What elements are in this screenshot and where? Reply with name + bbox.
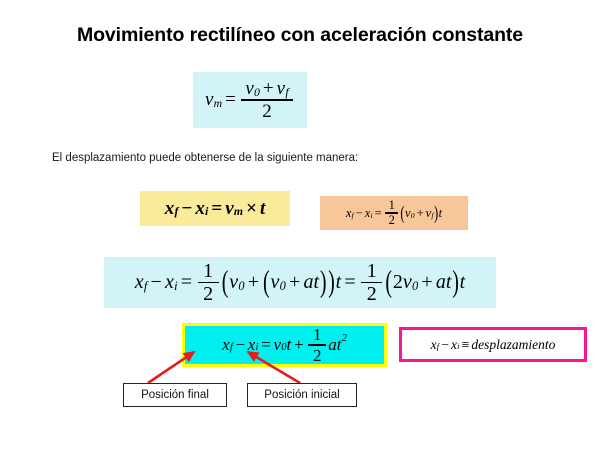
t-variable: t [260, 199, 265, 218]
vm-variable: v [225, 199, 233, 218]
vm-subscript: m [234, 206, 243, 218]
v0-subscript: 0 [254, 87, 260, 99]
xf-subscript: f [175, 206, 179, 218]
slide-canvas: Movimiento rectilíneo con aceleración co… [0, 0, 600, 450]
v0-subscript: 0 [281, 343, 286, 354]
identity-sign: ≡ [459, 338, 471, 352]
open-paren: ( [400, 203, 405, 222]
v0-variable-inner: v [271, 272, 280, 292]
v0-variable: v [229, 272, 238, 292]
minus-sign: − [178, 199, 195, 218]
xf-variable: x [135, 272, 144, 292]
formula-expanded: xf − xi = 1 2 ( v0 + ( v0 + at ) ) t = 1… [104, 257, 496, 308]
xf-subscript: f [437, 343, 439, 351]
v0-subscript-inner: 0 [280, 280, 286, 292]
plus-sign: + [260, 79, 277, 98]
close-paren-outer: ) [327, 267, 335, 298]
fraction-denominator: 2 [386, 214, 398, 227]
formula-displacement-half: xf − xi = 1 2 ( v0 + vf ) t [320, 196, 468, 230]
body-sentence: El desplazamiento puede obtenerse de la … [52, 152, 358, 164]
xi-subscript: i [256, 343, 259, 354]
plus-sign: + [291, 336, 306, 353]
fraction-mean-velocity: v0 + vf 2 [241, 79, 293, 121]
callout-final-position: Posición final [123, 383, 227, 407]
xi-variable: x [195, 199, 205, 218]
fraction-numerator: 1 [199, 261, 218, 282]
close-paren-second: ) [451, 267, 459, 298]
vm-variable: v [205, 90, 213, 109]
minus-sign: − [233, 336, 248, 353]
v0-subscript: 0 [411, 212, 415, 220]
callout-initial-position: Posición inicial [247, 383, 357, 407]
v0-variable: v [245, 79, 253, 98]
open-paren-outer: ( [221, 267, 229, 298]
v0-subscript: 0 [238, 280, 244, 292]
v0-variable-second: v [403, 272, 412, 292]
xf-variable: x [431, 338, 437, 352]
xi-subscript: i [457, 343, 459, 351]
xf-variable: x [165, 199, 175, 218]
formula-mean-velocity-expression: vm = v0 + vf 2 [205, 79, 295, 121]
plus-sign: + [415, 207, 426, 220]
vf-variable: v [277, 79, 285, 98]
equals-sign: = [222, 90, 239, 109]
equals-sign: = [208, 199, 225, 218]
callout-final-position-label: Posición final [141, 389, 209, 401]
xf-subscript: f [144, 280, 147, 292]
formula-mean-velocity: vm = v0 + vf 2 [193, 72, 307, 128]
xi-subscript: i [370, 212, 372, 220]
t-exponent: 2 [342, 334, 347, 345]
fraction-one-half: 1 2 [385, 199, 398, 227]
xf-variable: x [222, 336, 230, 353]
fraction-one-half-first: 1 2 [198, 261, 219, 305]
equals-sign: = [373, 207, 384, 220]
equals-sign: = [178, 272, 196, 292]
coefficient-two: 2 [393, 272, 403, 292]
fraction-numerator: 1 [386, 199, 398, 212]
xi-subscript: i [205, 206, 208, 218]
a-variable: a [304, 272, 314, 292]
fraction-denominator: 2 [362, 283, 381, 304]
page-title: Movimiento rectilíneo con aceleración co… [0, 24, 600, 47]
xi-variable: x [451, 338, 457, 352]
close-paren: ) [433, 203, 438, 222]
minus-sign: − [147, 272, 165, 292]
a-variable: a [328, 336, 337, 353]
t-variable-trailing: t [460, 272, 466, 292]
open-paren-second: ( [385, 267, 393, 298]
formula-displacement-half-expression: xf − xi = 1 2 ( v0 + vf ) t [346, 199, 442, 227]
formula-expanded-expression: xf − xi = 1 2 ( v0 + ( v0 + at ) ) t = 1… [135, 261, 465, 305]
plus-sign-inner: + [286, 272, 304, 292]
formula-displacement-vm-expression: xf − xi = vm × t [165, 199, 265, 218]
fraction-denominator: 2 [199, 283, 218, 304]
vm-subscript: m [214, 98, 223, 110]
times-sign: × [243, 199, 260, 218]
v0-variable: v [274, 336, 282, 353]
fraction-numerator: v0 + vf [241, 79, 293, 99]
fraction-denominator: 2 [309, 346, 325, 364]
xi-subscript: i [174, 280, 177, 292]
fraction-one-half-second: 1 2 [361, 261, 382, 305]
t-variable: t [439, 207, 442, 220]
minus-sign: − [354, 207, 365, 220]
fraction-denominator: 2 [258, 101, 276, 121]
equals-sign: = [258, 336, 273, 353]
open-paren-inner: ( [262, 267, 270, 298]
vf-subscript: f [285, 87, 288, 99]
v0-subscript-second: 0 [412, 280, 418, 292]
fraction-numerator: 1 [362, 261, 381, 282]
definition-word: desplazamiento [471, 338, 555, 352]
plus-sign: + [245, 272, 263, 292]
formula-final-kinematic: xf − xi = v0t + 1 2 at2 [182, 323, 387, 367]
formula-displacement-definition: xf − xi ≡ desplazamiento [399, 327, 587, 362]
close-paren-inner: ) [319, 267, 327, 298]
fraction-numerator: 1 [309, 326, 325, 344]
equals-sign-second: = [341, 272, 359, 292]
callout-initial-position-label: Posición inicial [264, 389, 339, 401]
xf-subscript: f [352, 212, 354, 220]
a-variable-second: a [436, 272, 446, 292]
xi-variable: x [165, 272, 174, 292]
xf-subscript: f [230, 343, 233, 354]
formula-displacement-vm: xf − xi = vm × t [140, 191, 290, 226]
xi-variable: x [248, 336, 256, 353]
formula-definition-expression: xf − xi ≡ desplazamiento [431, 338, 556, 352]
minus-sign: − [439, 338, 451, 352]
formula-final-expression: xf − xi = v0t + 1 2 at2 [222, 326, 347, 363]
numerator-expression: v0 + vf [245, 79, 288, 98]
plus-sign-second: + [418, 272, 436, 292]
fraction-one-half: 1 2 [308, 326, 326, 363]
